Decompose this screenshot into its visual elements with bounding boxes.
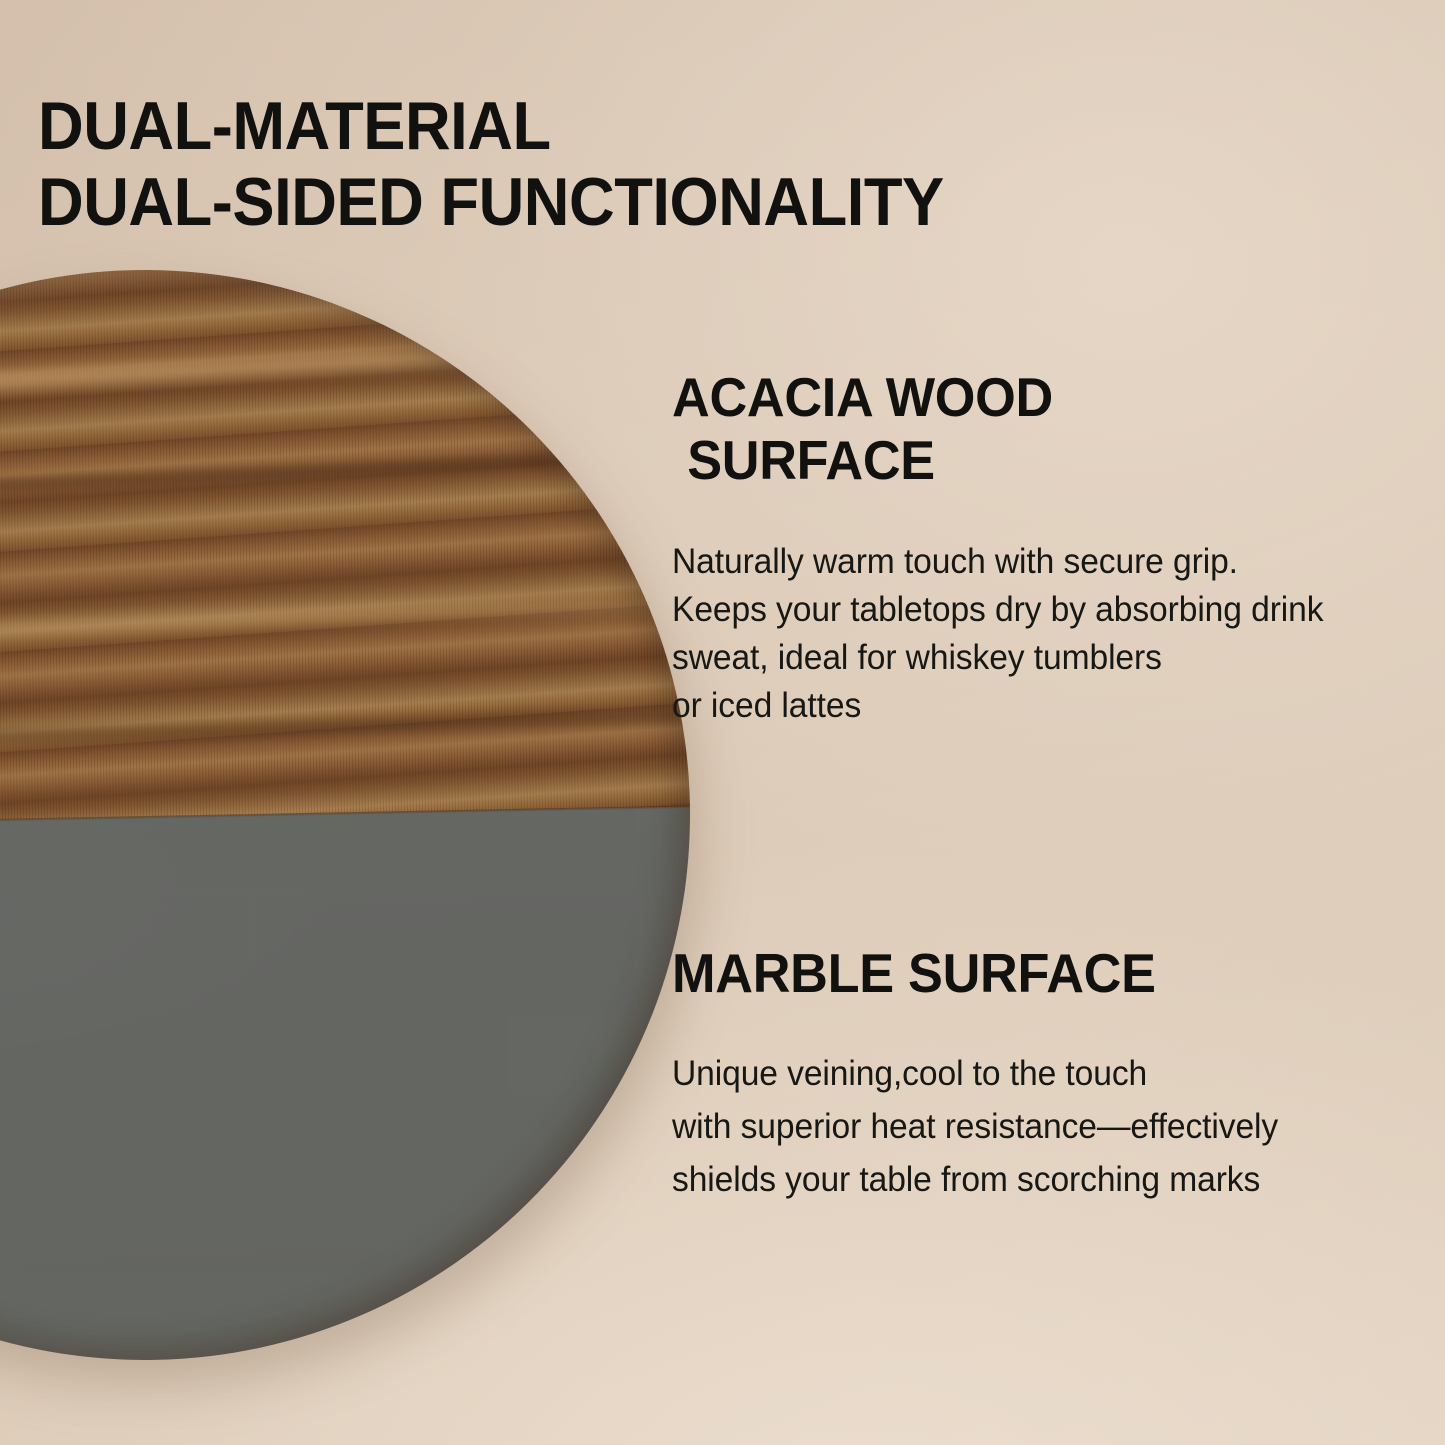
feature-body-line-2: Keeps your tabletops dry by absorbing dr… bbox=[672, 590, 1323, 629]
infographic-page: DUAL-MATERIAL DUAL-SIDED FUNCTIONALITY A… bbox=[0, 0, 1445, 1445]
page-title-line-2: DUAL-SIDED FUNCTIONALITY bbox=[38, 164, 944, 240]
coaster-disc bbox=[0, 260, 700, 1371]
coaster-edge-shading bbox=[0, 260, 700, 1371]
feature-title-line-1: ACACIA WOOD bbox=[672, 366, 1053, 428]
feature-title-line-1: MARBLE SURFACE bbox=[672, 942, 1156, 1004]
marble-speckle-texture bbox=[0, 807, 700, 1371]
wood-grain-streak bbox=[0, 324, 700, 424]
product-image-coaster bbox=[0, 270, 690, 1360]
feature-body-line-1: Unique veining,cool to the touch bbox=[672, 1054, 1147, 1093]
feature-body-line-2: with superior heat resistance—effectivel… bbox=[672, 1107, 1278, 1146]
material-seam-line bbox=[0, 806, 690, 830]
page-title: DUAL-MATERIAL DUAL-SIDED FUNCTIONALITY bbox=[38, 88, 944, 240]
wood-grain-streak bbox=[0, 700, 700, 762]
coaster-wood-half bbox=[0, 260, 690, 828]
page-title-line-1: DUAL-MATERIAL bbox=[38, 88, 551, 164]
feature-body-line-3: shields your table from scorching marks bbox=[672, 1160, 1260, 1199]
feature-title-acacia-wood: ACACIA WOODSURFACE bbox=[672, 366, 1317, 492]
feature-title-line-2: SURFACE bbox=[672, 429, 1317, 492]
coaster-marble-half bbox=[0, 807, 700, 1371]
feature-body-line-4: or iced lattes bbox=[672, 686, 861, 725]
feature-block-acacia-wood: ACACIA WOODSURFACE Naturally warm touch … bbox=[672, 366, 1351, 730]
feature-body-line-3: sweat, ideal for whiskey tumblers bbox=[672, 638, 1162, 677]
feature-block-marble: MARBLE SURFACE Unique veining,cool to th… bbox=[672, 942, 1303, 1206]
coaster-drop-shadow bbox=[0, 296, 698, 1386]
feature-body-line-1: Naturally warm touch with secure grip. bbox=[672, 542, 1238, 581]
wood-grain-streak bbox=[0, 440, 700, 515]
feature-body-marble: Unique veining,cool to the touch with su… bbox=[672, 1047, 1278, 1206]
feature-body-acacia-wood: Naturally warm touch with secure grip. K… bbox=[672, 538, 1323, 730]
wood-grain-streak bbox=[0, 587, 700, 660]
feature-title-marble: MARBLE SURFACE bbox=[672, 942, 1272, 1005]
